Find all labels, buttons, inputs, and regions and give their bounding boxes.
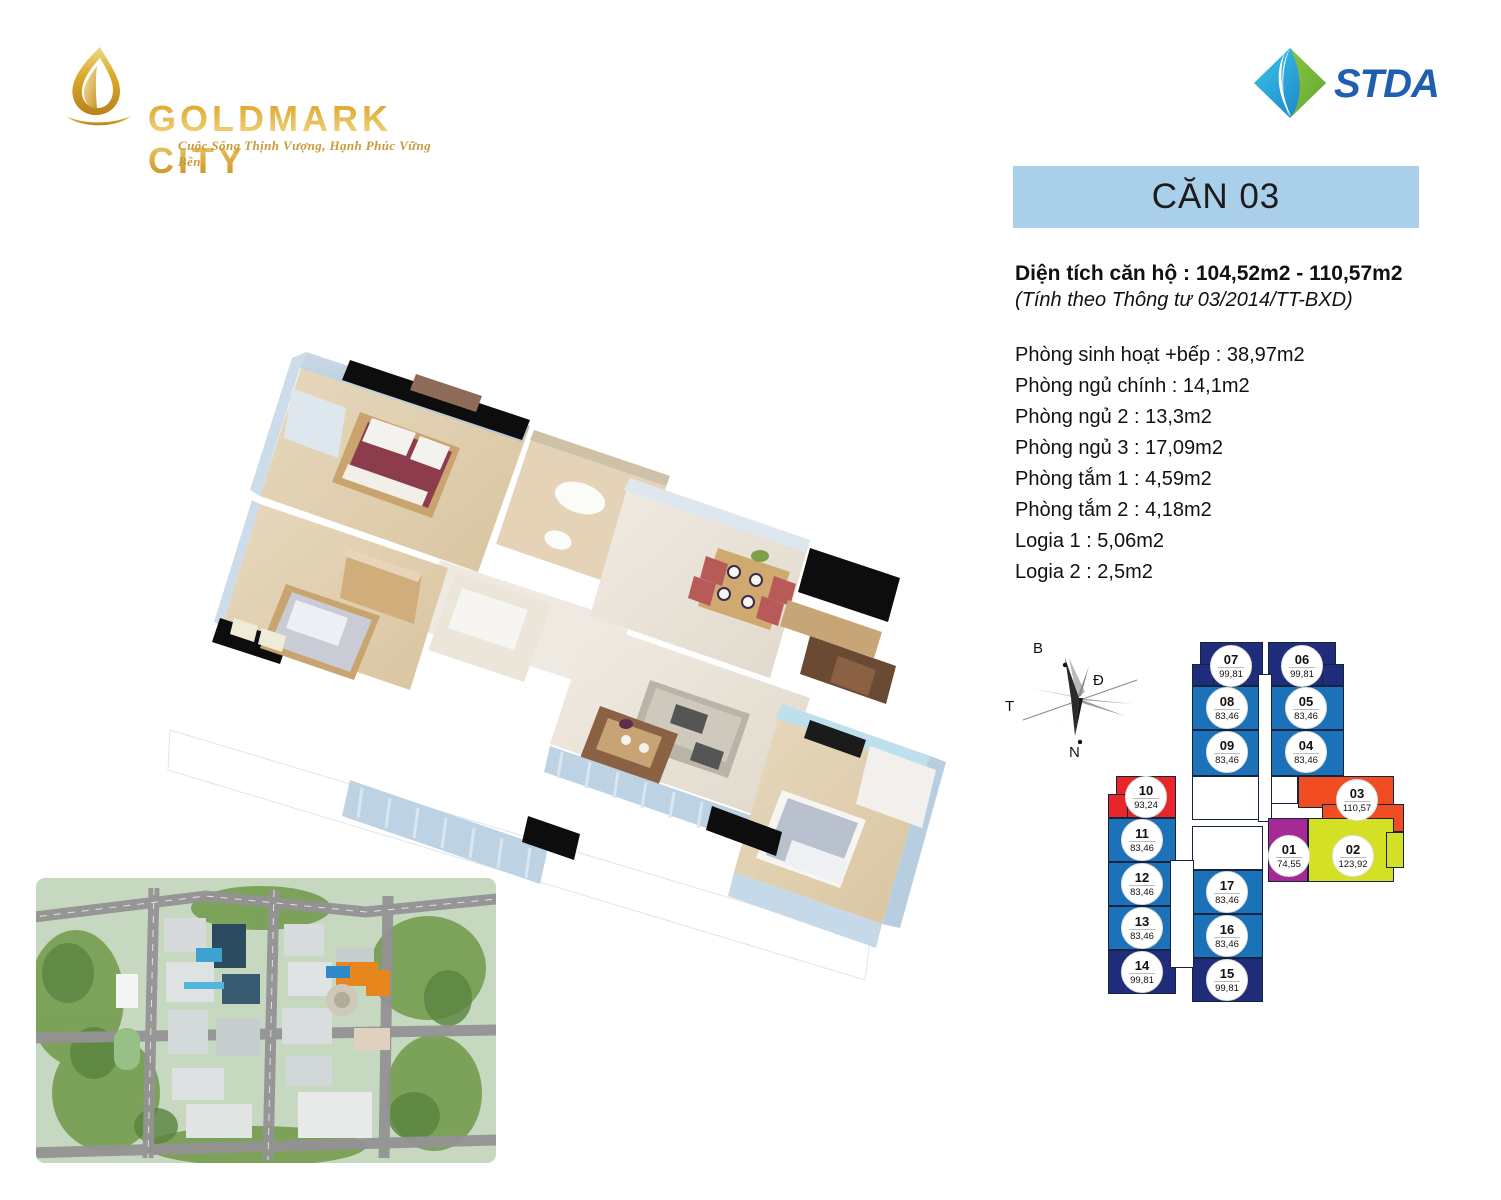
keyplan-badge-16[interactable]: 16 83,46 bbox=[1206, 915, 1248, 957]
keyplan-badge-number: 04 bbox=[1299, 739, 1313, 752]
keyplan-badge-number: 15 bbox=[1220, 967, 1234, 980]
room-area-item: Phòng ngủ 2 : 13,3m2 bbox=[1015, 402, 1485, 433]
keyplan-badge-02[interactable]: 02 123,92 bbox=[1332, 835, 1374, 877]
keyplan-badge-17[interactable]: 17 83,46 bbox=[1206, 871, 1248, 913]
keyplan-badge-area: 99,81 bbox=[1130, 976, 1154, 986]
keyplan-badge-divider bbox=[1289, 667, 1315, 668]
regulation-note: (Tính theo Thông tư 03/2014/TT-BXD) bbox=[1015, 289, 1485, 312]
keyplan-badge-area: 110,57 bbox=[1343, 804, 1371, 814]
keyplan-badge-divider bbox=[1129, 973, 1155, 974]
keyplan-badge-13[interactable]: 13 83,46 bbox=[1121, 907, 1163, 949]
keyplan-badge-divider bbox=[1293, 753, 1319, 754]
masterplan-site-map-image bbox=[36, 878, 496, 1163]
keyplan-badge-divider bbox=[1129, 885, 1155, 886]
keyplan-badge-06[interactable]: 06 99,81 bbox=[1281, 645, 1323, 687]
room-area-item: Phòng tắm 1 : 4,59m2 bbox=[1015, 464, 1485, 495]
poster-page: GOLDMARK CITY Cuộc Sống Thịnh Vượng, Hạn… bbox=[0, 0, 1501, 1200]
keyplan-badge-divider bbox=[1218, 667, 1244, 668]
keyplan-badge-number: 12 bbox=[1135, 871, 1149, 884]
floor-key-plan: 07 99,81 06 99,81 08 83,46 05 83,46 09 8… bbox=[1100, 628, 1420, 1028]
goldmark-tagline: Cuộc Sống Thịnh Vượng, Hạnh Phúc Vững Bề… bbox=[178, 138, 440, 170]
compass-label-west: T bbox=[1005, 698, 1014, 715]
keyplan-badge-number: 14 bbox=[1135, 959, 1149, 972]
flame-leaf-logo-icon bbox=[60, 44, 136, 128]
keyplan-badge-number: 10 bbox=[1139, 784, 1153, 797]
keyplan-badge-number: 16 bbox=[1220, 923, 1234, 936]
keyplan-void-upper-left bbox=[1192, 776, 1263, 820]
keyplan-badge-03[interactable]: 03 110,57 bbox=[1336, 779, 1378, 821]
keyplan-badge-12[interactable]: 12 83,46 bbox=[1121, 863, 1163, 905]
keyplan-badge-04[interactable]: 04 83,46 bbox=[1285, 731, 1327, 773]
keyplan-badge-divider bbox=[1129, 841, 1155, 842]
keyplan-badge-divider bbox=[1276, 857, 1302, 858]
keyplan-badge-number: 05 bbox=[1299, 695, 1313, 708]
keyplan-badge-area: 83,46 bbox=[1294, 756, 1318, 766]
keyplan-badge-01[interactable]: 01 74,55 bbox=[1268, 835, 1310, 877]
keyplan-badge-number: 07 bbox=[1224, 653, 1238, 666]
keyplan-core-lower bbox=[1170, 860, 1194, 968]
specifications-panel: Diện tích căn hộ : 104,52m2 - 110,57m2 (… bbox=[1015, 262, 1485, 588]
keyplan-badge-divider bbox=[1214, 709, 1240, 710]
keyplan-badge-number: 03 bbox=[1350, 787, 1364, 800]
keyplan-badge-divider bbox=[1129, 929, 1155, 930]
keyplan-badge-number: 17 bbox=[1220, 879, 1234, 892]
keyplan-badge-divider bbox=[1293, 709, 1319, 710]
keyplan-badge-area: 99,81 bbox=[1215, 984, 1239, 994]
keyplan-badge-divider bbox=[1214, 893, 1240, 894]
keyplan-badge-divider bbox=[1214, 937, 1240, 938]
keyplan-badge-number: 06 bbox=[1295, 653, 1309, 666]
room-area-item: Phòng ngủ 3 : 17,09m2 bbox=[1015, 433, 1485, 464]
keyplan-badge-divider bbox=[1344, 801, 1370, 802]
page-title: CĂN 03 bbox=[1152, 177, 1281, 217]
room-area-item: Phòng ngủ chính : 14,1m2 bbox=[1015, 371, 1485, 402]
keyplan-badge-area: 83,46 bbox=[1294, 712, 1318, 722]
keyplan-badge-divider bbox=[1340, 857, 1366, 858]
keyplan-badge-10[interactable]: 10 93,24 bbox=[1125, 776, 1167, 818]
unit-title-band: CĂN 03 bbox=[1013, 166, 1419, 228]
keyplan-badge-area: 74,55 bbox=[1277, 860, 1301, 870]
keyplan-badge-area: 83,46 bbox=[1215, 940, 1239, 950]
keyplan-void-upper-right bbox=[1268, 776, 1298, 804]
stda-diamond-logo-icon bbox=[1252, 46, 1328, 120]
goldmark-city-logo: GOLDMARK CITY Cuộc Sống Thịnh Vượng, Hạn… bbox=[60, 44, 440, 130]
keyplan-badge-divider bbox=[1214, 981, 1240, 982]
keyplan-badge-area: 83,46 bbox=[1215, 712, 1239, 722]
room-area-list: Phòng sinh hoạt +bếp : 38,97m2 Phòng ngủ… bbox=[1015, 340, 1485, 588]
keyplan-badge-14[interactable]: 14 99,81 bbox=[1121, 951, 1163, 993]
keyplan-badge-08[interactable]: 08 83,46 bbox=[1206, 687, 1248, 729]
compass-label-north: B bbox=[1033, 640, 1043, 657]
room-area-item: Phòng sinh hoạt +bếp : 38,97m2 bbox=[1015, 340, 1485, 371]
room-area-item: Logia 2 : 2,5m2 bbox=[1015, 557, 1485, 588]
compass-label-south: N bbox=[1069, 744, 1080, 761]
keyplan-badge-05[interactable]: 05 83,46 bbox=[1285, 687, 1327, 729]
keyplan-badge-divider bbox=[1133, 798, 1159, 799]
keyplan-badge-area: 99,81 bbox=[1290, 670, 1314, 680]
keyplan-badge-11[interactable]: 11 83,46 bbox=[1121, 819, 1163, 861]
keyplan-badge-area: 83,46 bbox=[1215, 756, 1239, 766]
keyplan-badge-area: 123,92 bbox=[1338, 860, 1367, 870]
keyplan-badge-area: 93,24 bbox=[1134, 801, 1158, 811]
keyplan-badge-area: 99,81 bbox=[1219, 670, 1243, 680]
room-area-item: Logia 1 : 5,06m2 bbox=[1015, 526, 1485, 557]
total-area-label: Diện tích căn hộ : 104,52m2 - 110,57m2 bbox=[1015, 262, 1485, 286]
keyplan-badge-area: 83,46 bbox=[1215, 896, 1239, 906]
keyplan-badge-area: 83,46 bbox=[1130, 932, 1154, 942]
keyplan-unit-02-tail[interactable] bbox=[1386, 832, 1404, 868]
keyplan-badge-07[interactable]: 07 99,81 bbox=[1210, 645, 1252, 687]
keyplan-badge-number: 11 bbox=[1135, 827, 1149, 840]
keyplan-badge-area: 83,46 bbox=[1130, 888, 1154, 898]
keyplan-core-upper bbox=[1258, 674, 1272, 822]
room-area-item: Phòng tắm 2 : 4,18m2 bbox=[1015, 495, 1485, 526]
keyplan-badge-09[interactable]: 09 83,46 bbox=[1206, 731, 1248, 773]
keyplan-void-lower bbox=[1192, 826, 1263, 870]
keyplan-badge-area: 83,46 bbox=[1130, 844, 1154, 854]
stda-wordmark: STDA bbox=[1334, 62, 1439, 107]
keyplan-badge-number: 13 bbox=[1135, 915, 1149, 928]
keyplan-badge-number: 02 bbox=[1346, 843, 1360, 856]
stda-logo: STDA bbox=[1252, 46, 1452, 120]
keyplan-unit-06-tail[interactable] bbox=[1322, 664, 1344, 686]
keyplan-badge-divider bbox=[1214, 753, 1240, 754]
keyplan-badge-number: 08 bbox=[1220, 695, 1234, 708]
masterplan-site-map[interactable] bbox=[36, 878, 496, 1163]
keyplan-badge-number: 01 bbox=[1282, 843, 1296, 856]
keyplan-badge-15[interactable]: 15 99,81 bbox=[1206, 959, 1248, 1001]
keyplan-badge-number: 09 bbox=[1220, 739, 1234, 752]
